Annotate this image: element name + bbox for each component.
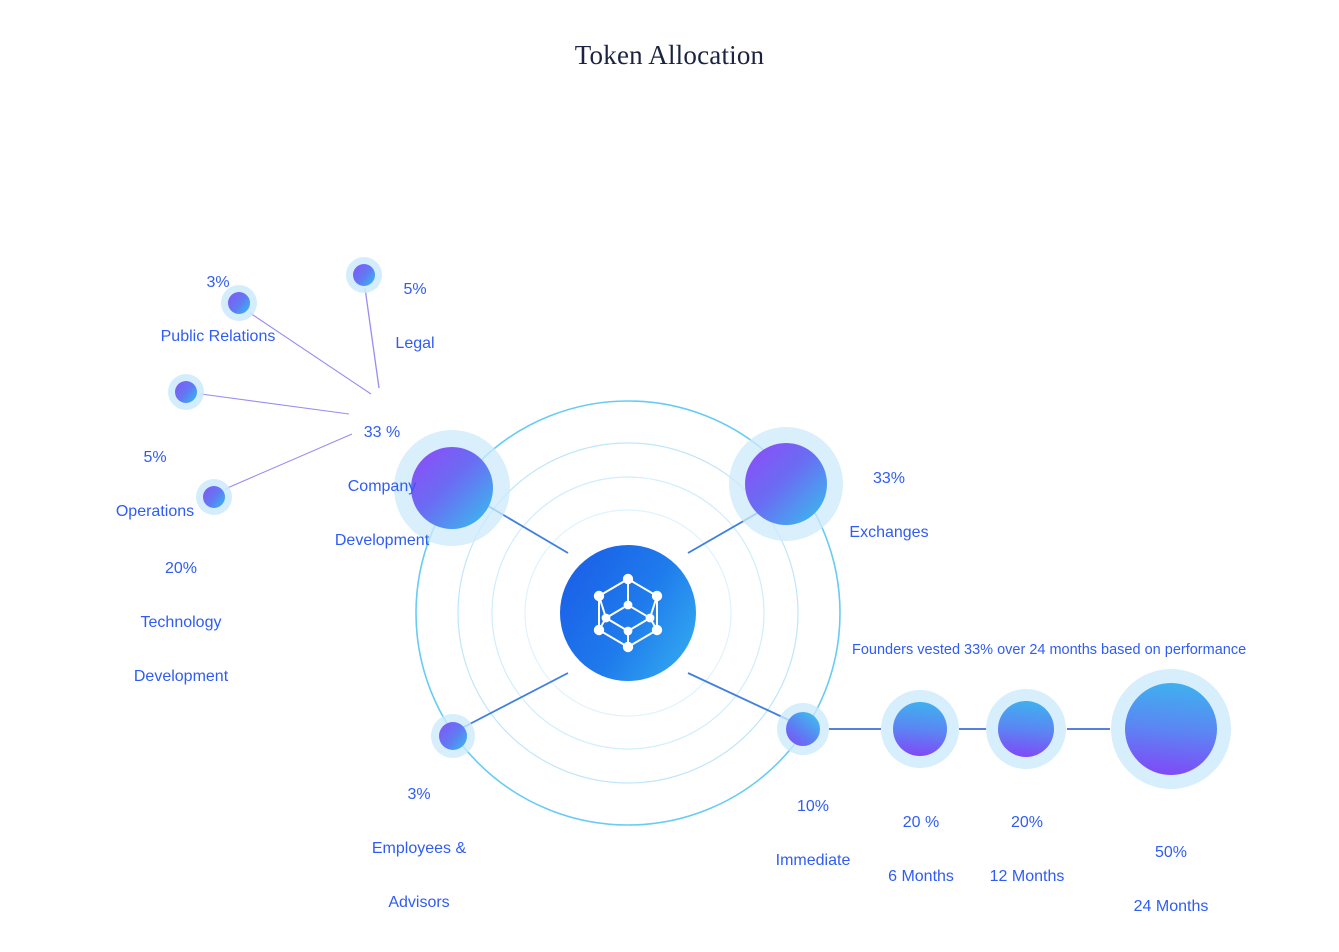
node-center-core: [560, 545, 696, 681]
connector-public-relations: [250, 313, 371, 394]
node-twelve-months-core: [998, 701, 1054, 757]
node-immediate-core: [786, 712, 820, 746]
node-twelve-months[interactable]: [986, 689, 1066, 769]
node-six-months[interactable]: [881, 690, 959, 768]
connector-legal: [365, 288, 379, 388]
label-twelve-months-name: 12 Months: [971, 868, 1083, 886]
node-company-development-core: [411, 447, 493, 529]
node-exchanges-core: [745, 443, 827, 525]
node-twentyfour-months-core: [1125, 683, 1217, 775]
infographic-canvas: Token Allocation: [0, 0, 1339, 870]
node-operations[interactable]: [168, 374, 204, 410]
founders-vesting-note: Founders vested 33% over 24 months based…: [852, 642, 1246, 658]
connector-center-immediate: [688, 673, 793, 722]
node-legal[interactable]: [346, 257, 382, 293]
node-public-relations[interactable]: [221, 285, 257, 321]
node-company-development[interactable]: [394, 430, 510, 546]
node-six-months-core: [893, 702, 947, 756]
connector-technology: [225, 434, 352, 489]
token-allocation-diagram: [0, 0, 1339, 870]
node-technology-development[interactable]: [196, 479, 232, 515]
node-employees-advisors[interactable]: [431, 714, 475, 758]
label-twentyfour-months-name: 24 Months: [1115, 898, 1227, 916]
node-immediate[interactable]: [777, 703, 829, 755]
satellite-connectors: [201, 288, 379, 489]
node-public-relations-core: [228, 292, 250, 314]
node-center[interactable]: [560, 545, 696, 681]
label-six-months-name: 6 Months: [866, 868, 976, 886]
node-technology-development-core: [203, 486, 225, 508]
label-employees-name-2: Advisors: [359, 894, 479, 912]
connector-center-employees: [462, 673, 568, 728]
node-twentyfour-months[interactable]: [1111, 669, 1231, 789]
node-employees-advisors-core: [439, 722, 467, 750]
node-exchanges[interactable]: [729, 427, 843, 541]
connector-operations: [201, 394, 349, 414]
node-legal-core: [353, 264, 375, 286]
node-operations-core: [175, 381, 197, 403]
